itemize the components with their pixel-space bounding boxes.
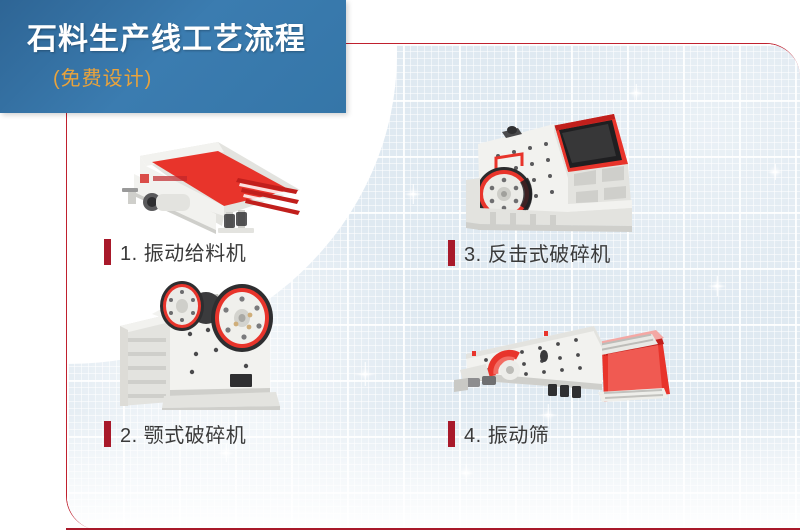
vibrating-feeder-image	[100, 118, 305, 238]
item-2-label: 2. 颚式破碎机	[104, 419, 246, 448]
item-3-label: 3. 反击式破碎机	[448, 238, 611, 267]
label-marker	[104, 239, 111, 265]
item-1-label: 1. 振动给料机	[104, 237, 246, 266]
item-4-label-text: 4. 振动筛	[464, 419, 549, 448]
title-banner: 石料生产线工艺流程 (免费设计)	[0, 0, 346, 113]
promo-graphic: 1. 振动给料机	[0, 0, 800, 530]
label-marker	[104, 421, 111, 447]
label-marker	[448, 240, 455, 266]
item-4-label: 4. 振动筛	[448, 419, 549, 448]
vibrating-screen-image	[452, 298, 674, 418]
jaw-crusher-image	[112, 278, 322, 410]
item-1-label-text: 1. 振动给料机	[120, 237, 246, 266]
label-marker	[448, 421, 455, 447]
page-title: 石料生产线工艺流程	[27, 14, 306, 58]
impact-crusher-image	[456, 108, 656, 236]
page-subtitle: (免费设计)	[53, 62, 152, 91]
item-3-label-text: 3. 反击式破碎机	[464, 238, 611, 267]
item-2-label-text: 2. 颚式破碎机	[120, 419, 246, 448]
